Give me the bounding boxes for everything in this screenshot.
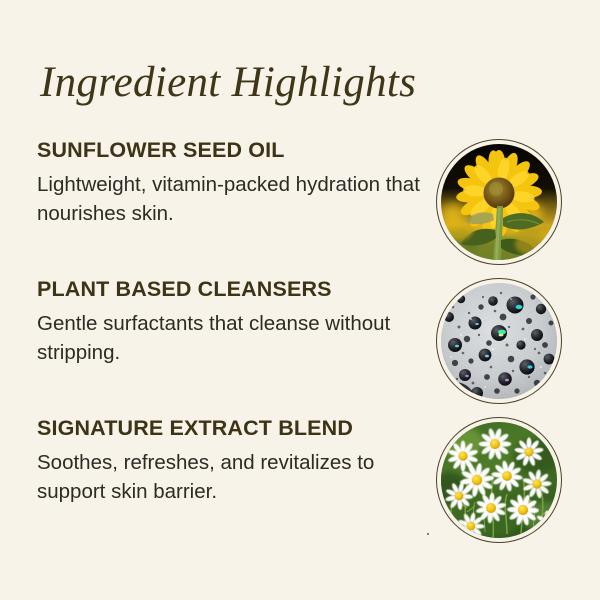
ingredient-thumbnail bbox=[436, 417, 562, 543]
ingredient-heading: PLANT BASED CLEANSERS bbox=[37, 277, 422, 302]
ingredient-text-block: SIGNATURE EXTRACT BLEND Soothes, refresh… bbox=[37, 416, 422, 506]
ingredient-heading: SIGNATURE EXTRACT BLEND bbox=[37, 416, 422, 441]
list-item: SIGNATURE EXTRACT BLEND Soothes, refresh… bbox=[0, 416, 600, 546]
thumbnail-ring bbox=[436, 278, 562, 404]
thumbnail-ring bbox=[436, 139, 562, 265]
ingredient-text-block: SUNFLOWER SEED OIL Lightweight, vitamin-… bbox=[37, 138, 422, 228]
ingredient-text-block: PLANT BASED CLEANSERS Gentle surfactants… bbox=[37, 277, 422, 367]
thumbnail-ring bbox=[436, 417, 562, 543]
ingredient-thumbnail bbox=[436, 278, 562, 404]
ingredient-thumbnail bbox=[436, 139, 562, 265]
list-item: PLANT BASED CLEANSERS Gentle surfactants… bbox=[0, 277, 600, 407]
list-item: SUNFLOWER SEED OIL Lightweight, vitamin-… bbox=[0, 138, 600, 268]
ingredient-list: SUNFLOWER SEED OIL Lightweight, vitamin-… bbox=[0, 0, 600, 600]
ingredient-description: Soothes, refreshes, and revitalizes to s… bbox=[37, 448, 422, 506]
ingredient-description: Gentle surfactants that cleanse without … bbox=[37, 309, 422, 367]
ingredient-heading: SUNFLOWER SEED OIL bbox=[37, 138, 422, 163]
ingredient-description: Lightweight, vitamin-packed hydration th… bbox=[37, 170, 422, 228]
ingredient-highlights-card: Ingredient Highlights SUNFLOWER SEED OIL… bbox=[0, 0, 600, 600]
image-artifact-dot bbox=[427, 533, 429, 535]
